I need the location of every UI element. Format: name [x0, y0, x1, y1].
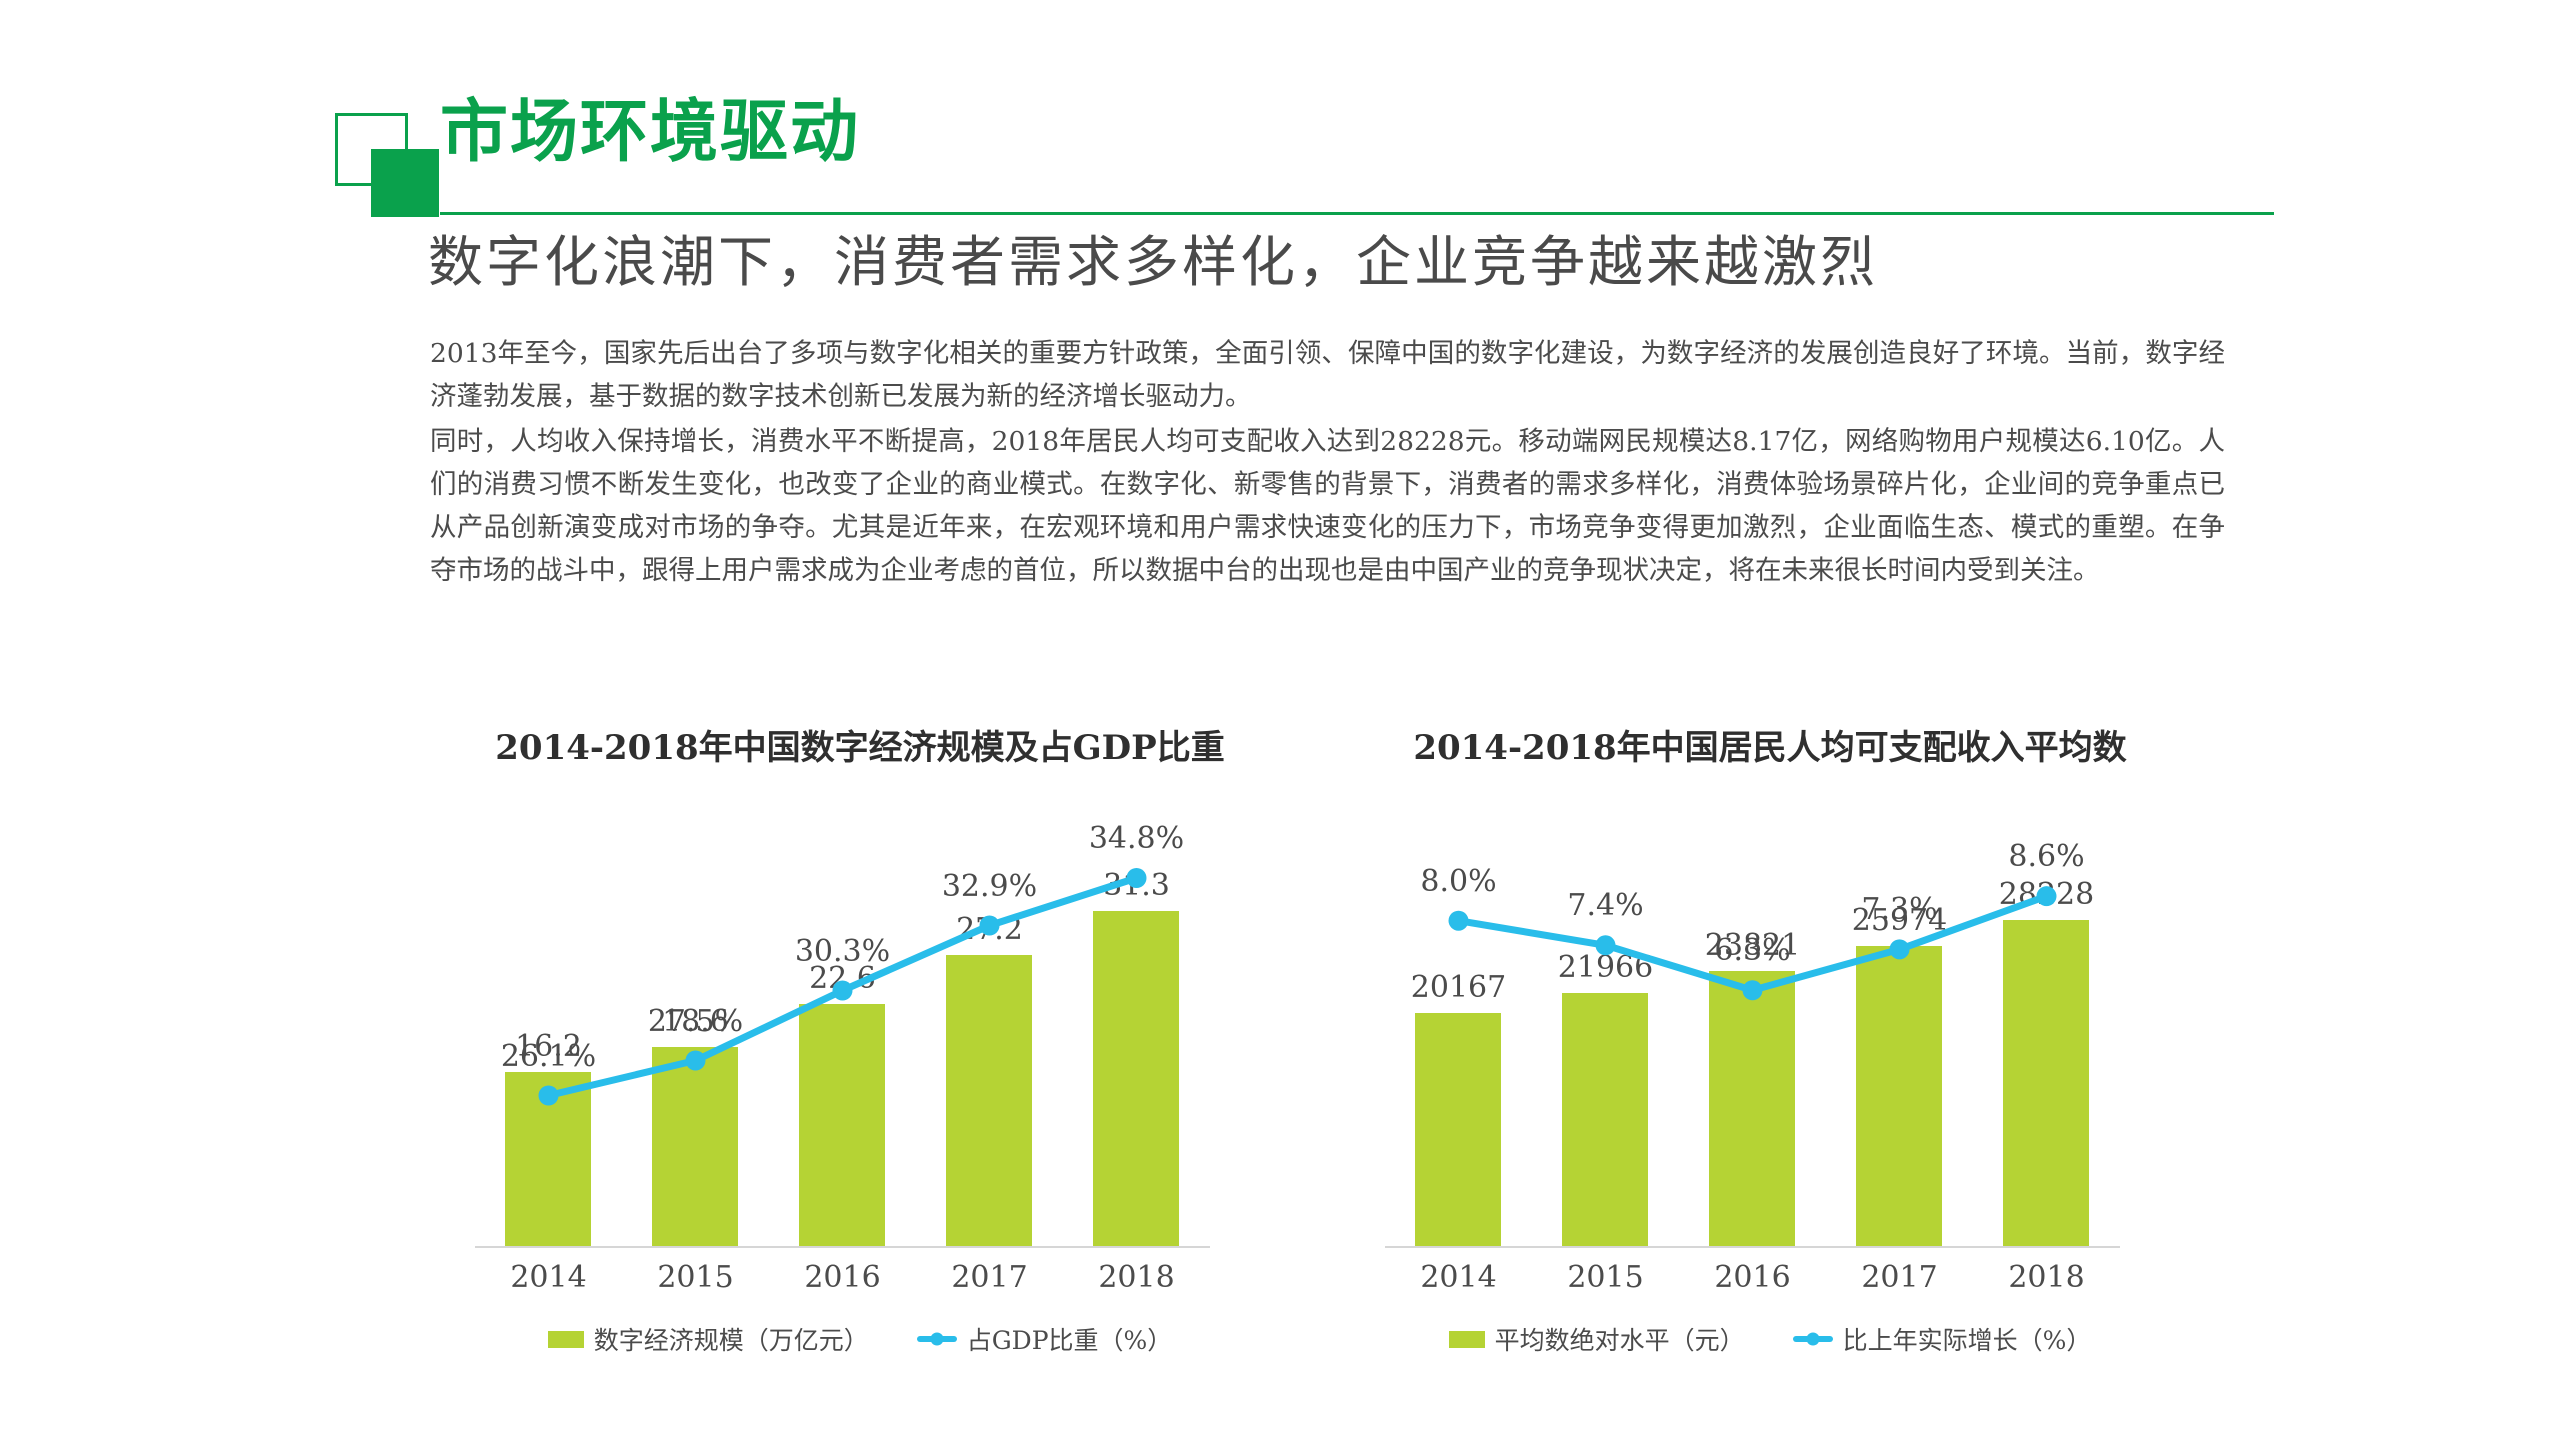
legend-label: 数字经济规模（万亿元） — [594, 1321, 869, 1357]
logo-mark — [335, 113, 439, 217]
bar-item: 22.6 — [776, 798, 908, 1246]
chart-title: 2014-2018年中国居民人均可支配收入平均数 — [1330, 720, 2210, 780]
x-axis-ticks: 20142015201620172018 — [420, 1260, 1300, 1295]
x-axis-tick: 2014 — [482, 1260, 614, 1295]
chart-plot-area: 2016721966238212597428228 8.0%7.4%6.3%7.… — [1330, 798, 2210, 1248]
line-value-label: 30.3% — [795, 934, 890, 969]
legend-item[interactable]: 平均数绝对水平（元） — [1449, 1321, 1745, 1357]
line-value-label: 7.4% — [1567, 888, 1643, 923]
body-copy: 2013年至今，国家先后出台了多项与数字化相关的重要方针政策，全面引领、保障中国… — [430, 333, 2225, 593]
body-paragraph-2: 同时，人均收入保持增长，消费水平不断提高，2018年居民人均可支配收入达到282… — [430, 421, 2225, 593]
legend-label: 比上年实际增长（%） — [1843, 1321, 2092, 1357]
line-value-label: 8.6% — [2008, 839, 2084, 874]
bar-rect — [946, 955, 1032, 1246]
bar-value-label: 21966 — [1558, 950, 1653, 985]
x-axis-ticks: 20142015201620172018 — [1330, 1260, 2210, 1295]
legend-item[interactable]: 占GDP比重（%） — [917, 1321, 1173, 1357]
line-value-label: 8.0% — [1420, 864, 1496, 899]
page-title: 市场环境驱动 — [440, 98, 860, 166]
chart-disposable-income: 2014-2018年中国居民人均可支配收入平均数 201672196623821… — [1330, 720, 2210, 1380]
legend-bar-swatch-icon — [1449, 1331, 1485, 1348]
x-axis-tick: 2017 — [923, 1260, 1055, 1295]
x-axis-tick: 2015 — [1539, 1260, 1671, 1295]
bar-item: 31.3 — [1070, 798, 1202, 1246]
bar-rect — [1562, 993, 1648, 1246]
bar-rect — [2003, 920, 2089, 1246]
bar-series: 16.218.622.627.231.3 — [475, 798, 1210, 1246]
bar-value-label: 31.3 — [1103, 868, 1170, 903]
page-subtitle: 数字化浪潮下，消费者需求多样化，企业竞争越来越激烈 — [428, 228, 1878, 297]
legend-line-swatch-icon — [917, 1336, 957, 1342]
line-value-label: 26.1% — [501, 1039, 596, 1074]
legend-line-swatch-icon — [1793, 1336, 1833, 1342]
bar-rect — [799, 1004, 885, 1246]
bar-value-label: 28228 — [1999, 877, 2094, 912]
legend-item[interactable]: 比上年实际增长（%） — [1793, 1321, 2092, 1357]
x-axis-tick: 2016 — [1686, 1260, 1818, 1295]
chart-title: 2014-2018年中国数字经济规模及占GDP比重 — [420, 720, 1300, 780]
bar-rect — [1415, 1013, 1501, 1246]
x-axis-line — [475, 1246, 1210, 1248]
line-value-label: 7.3% — [1861, 892, 1937, 927]
legend-item[interactable]: 数字经济规模（万亿元） — [548, 1321, 869, 1357]
chart-plot-area: 16.218.622.627.231.3 26.1%27.5%30.3%32.9… — [420, 798, 1300, 1248]
title-divider — [440, 212, 2274, 215]
x-axis-tick: 2016 — [776, 1260, 908, 1295]
x-axis-tick: 2014 — [1392, 1260, 1524, 1295]
bar-rect — [505, 1072, 591, 1246]
bar-rect — [1856, 946, 1942, 1246]
legend-label: 平均数绝对水平（元） — [1495, 1321, 1745, 1357]
slide: 市场环境驱动 数字化浪潮下，消费者需求多样化，企业竞争越来越激烈 2013年至今… — [0, 0, 2560, 1440]
bar-rect — [1709, 971, 1795, 1246]
bar-rect — [1093, 911, 1179, 1246]
line-value-label: 6.3% — [1714, 933, 1790, 968]
x-axis-tick: 2018 — [1980, 1260, 2112, 1295]
chart-legend: 数字经济规模（万亿元）占GDP比重（%） — [420, 1321, 1300, 1357]
x-axis-tick: 2018 — [1070, 1260, 1202, 1295]
bar-item: 25974 — [1833, 798, 1965, 1246]
x-axis-line — [1385, 1246, 2120, 1248]
logo-filled-square — [371, 149, 439, 217]
line-value-label: 32.9% — [942, 869, 1037, 904]
legend-label: 占GDP比重（%） — [967, 1321, 1173, 1357]
legend-bar-swatch-icon — [548, 1331, 584, 1348]
bar-item: 16.2 — [482, 798, 614, 1246]
bar-item: 27.2 — [923, 798, 1055, 1246]
x-axis-tick: 2015 — [629, 1260, 761, 1295]
bar-value-label: 20167 — [1411, 970, 1506, 1005]
line-value-label: 34.8% — [1089, 821, 1184, 856]
bar-value-label: 27.2 — [956, 912, 1023, 947]
x-axis-tick: 2017 — [1833, 1260, 1965, 1295]
bar-item: 21966 — [1539, 798, 1671, 1246]
line-value-label: 27.5% — [648, 1004, 743, 1039]
chart-legend: 平均数绝对水平（元）比上年实际增长（%） — [1330, 1321, 2210, 1357]
bar-rect — [652, 1047, 738, 1246]
bar-item: 23821 — [1686, 798, 1818, 1246]
body-paragraph-1: 2013年至今，国家先后出台了多项与数字化相关的重要方针政策，全面引领、保障中国… — [430, 333, 2225, 419]
chart-digital-economy: 2014-2018年中国数字经济规模及占GDP比重 16.218.622.627… — [420, 720, 1300, 1380]
